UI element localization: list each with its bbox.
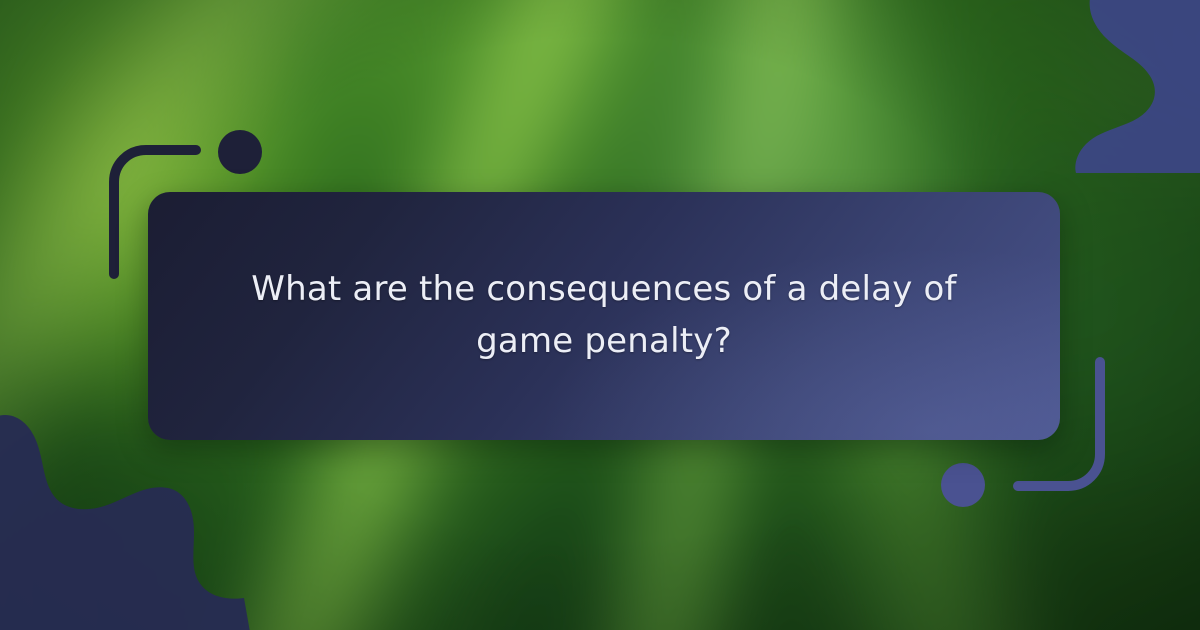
accent-dot-top-left-icon: [218, 130, 262, 174]
question-card: What are the consequences of a delay of …: [148, 192, 1060, 440]
accent-dot-bottom-right-icon: [941, 463, 985, 507]
question-text: What are the consequences of a delay of …: [234, 264, 974, 367]
organic-blob-top-right: [972, 0, 1200, 173]
question-card-graphic: What are the consequences of a delay of …: [0, 0, 1200, 630]
